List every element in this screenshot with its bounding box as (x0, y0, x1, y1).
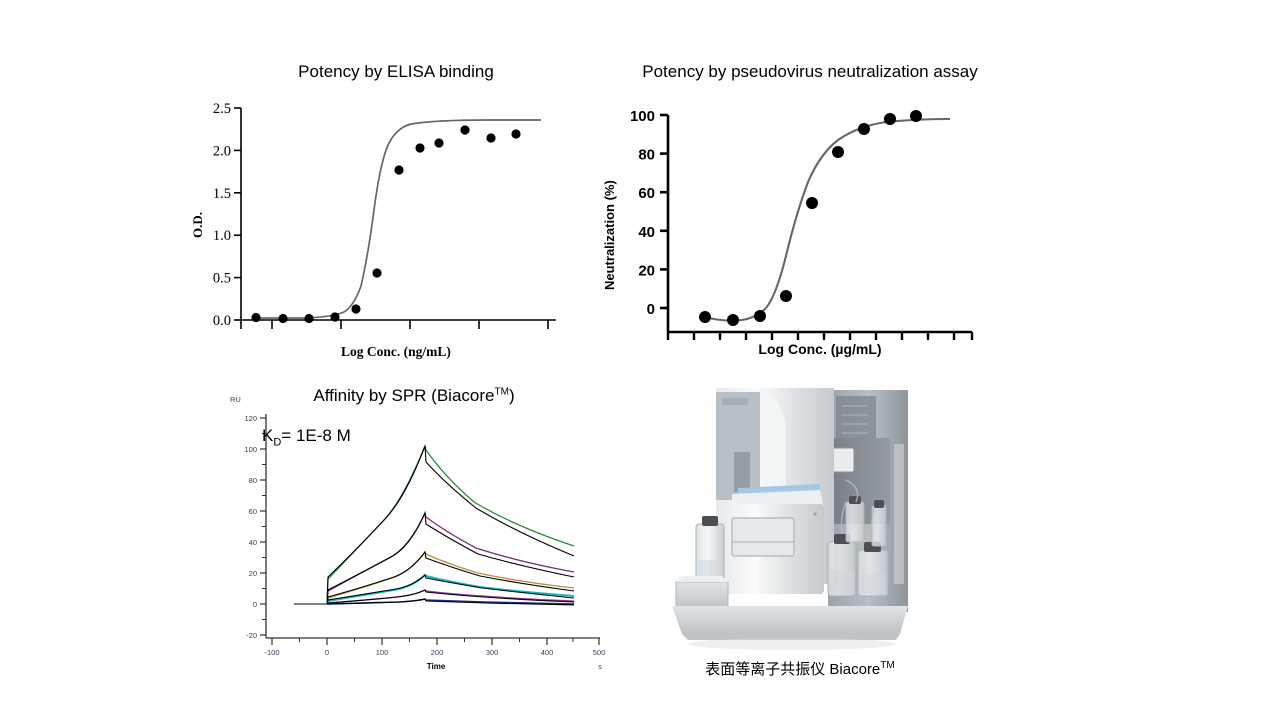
svg-text:60: 60 (249, 507, 257, 516)
kd-value: = 1E-8 M (281, 426, 350, 445)
svg-text:500: 500 (593, 648, 606, 657)
svg-text:100: 100 (376, 648, 389, 657)
elisa-chart-panel: O.D. Log Conc. (ng/mL) 2.5 2.0 1.5 1.0 (196, 60, 596, 370)
svg-text:-100: -100 (264, 648, 279, 657)
spr-ru-label: RU (230, 395, 241, 404)
instrument-base (672, 606, 908, 634)
svg-text:120: 120 (244, 414, 257, 423)
elisa-y-ticks (234, 108, 241, 320)
spr-y-tick-labels: 120 100 80 60 40 20 0 -20 (244, 414, 257, 640)
svg-text:0.5: 0.5 (213, 271, 231, 287)
neutralization-chart-panel: Neutralization (%) Log Conc. (µg/mL) 100… (600, 60, 1020, 370)
neutralization-data-points (699, 110, 922, 326)
elisa-data-points (251, 125, 520, 323)
svg-text:80: 80 (249, 476, 257, 485)
elisa-plot: 2.5 2.0 1.5 1.0 0.5 0.0 (196, 60, 596, 340)
svg-text:0.0: 0.0 (213, 313, 231, 329)
slide-canvas: Potency by ELISA binding O.D. Log Conc. … (0, 0, 1280, 720)
svg-text:60: 60 (638, 185, 655, 202)
biacore-instrument-illustration (660, 384, 940, 652)
biacore-instrument-photo (660, 384, 940, 652)
spr-curve-green (327, 446, 574, 604)
spr-curve-gold (327, 552, 574, 604)
svg-text:100: 100 (630, 108, 655, 125)
svg-text:200: 200 (431, 648, 444, 657)
svg-text:100: 100 (244, 445, 257, 454)
spr-x-axis-unit: s (598, 664, 602, 671)
svg-text:0: 0 (647, 301, 655, 318)
svg-text:2.0: 2.0 (213, 143, 231, 159)
svg-text:1.5: 1.5 (213, 186, 231, 202)
elisa-x-axis-label: Log Conc. (ng/mL) (196, 344, 596, 360)
svg-text:20: 20 (638, 262, 655, 279)
svg-text:1.0: 1.0 (213, 228, 231, 244)
spr-x-axis-title: Time (427, 662, 446, 671)
instrument-drip-tray (676, 582, 728, 610)
neutralization-fit-curve (704, 119, 950, 321)
spr-x-ticks (272, 638, 599, 645)
neutralization-x-axis-label: Log Conc. (µg/mL) (620, 341, 1020, 357)
neutralization-y-axis-label: Neutralization (%) (602, 180, 617, 290)
elisa-fit-curve (254, 120, 541, 318)
svg-text:300: 300 (486, 648, 499, 657)
spr-chart-panel: KD= 1E-8 M RU (214, 384, 614, 684)
neutralization-y-tick-labels: 100 80 60 40 20 0 (630, 108, 655, 318)
elisa-y-axis-label: O.D. (190, 212, 206, 238)
spr-fit-gold (327, 552, 574, 604)
spr-fit-purple (327, 513, 574, 604)
caption-chinese-text: 表面等离子共振仪 Biacore (705, 661, 880, 678)
svg-text:40: 40 (638, 224, 655, 241)
instrument-left-slot (734, 452, 750, 492)
svg-text:-20: -20 (246, 631, 257, 640)
spr-kd-annotation: KD= 1E-8 M (262, 426, 351, 448)
svg-text:40: 40 (249, 538, 257, 547)
svg-text:20: 20 (249, 569, 257, 578)
spr-curve-purple (327, 513, 574, 604)
elisa-y-tick-labels: 2.5 2.0 1.5 1.0 0.5 0.0 (213, 101, 231, 329)
spr-fit-green (327, 446, 574, 604)
svg-text:80: 80 (638, 147, 655, 164)
caption-tm-superscript: TM (880, 660, 894, 671)
neutralization-plot: 100 80 60 40 20 0 (600, 60, 1020, 340)
spr-x-tick-labels: -100 0 100 200 300 400 500 (264, 648, 605, 657)
svg-text:0: 0 (325, 648, 329, 657)
instrument-drawer-face (732, 518, 794, 556)
instrument-waste-bottle (696, 516, 724, 586)
elisa-x-ticks (241, 320, 548, 329)
kd-symbol: K (262, 426, 273, 445)
svg-text:400: 400 (541, 648, 554, 657)
svg-text:2.5: 2.5 (213, 101, 231, 117)
svg-text:0: 0 (253, 600, 257, 609)
biacore-photo-caption: 表面等离子共振仪 BiacoreTM (640, 658, 960, 679)
instrument-reflection (688, 638, 896, 650)
